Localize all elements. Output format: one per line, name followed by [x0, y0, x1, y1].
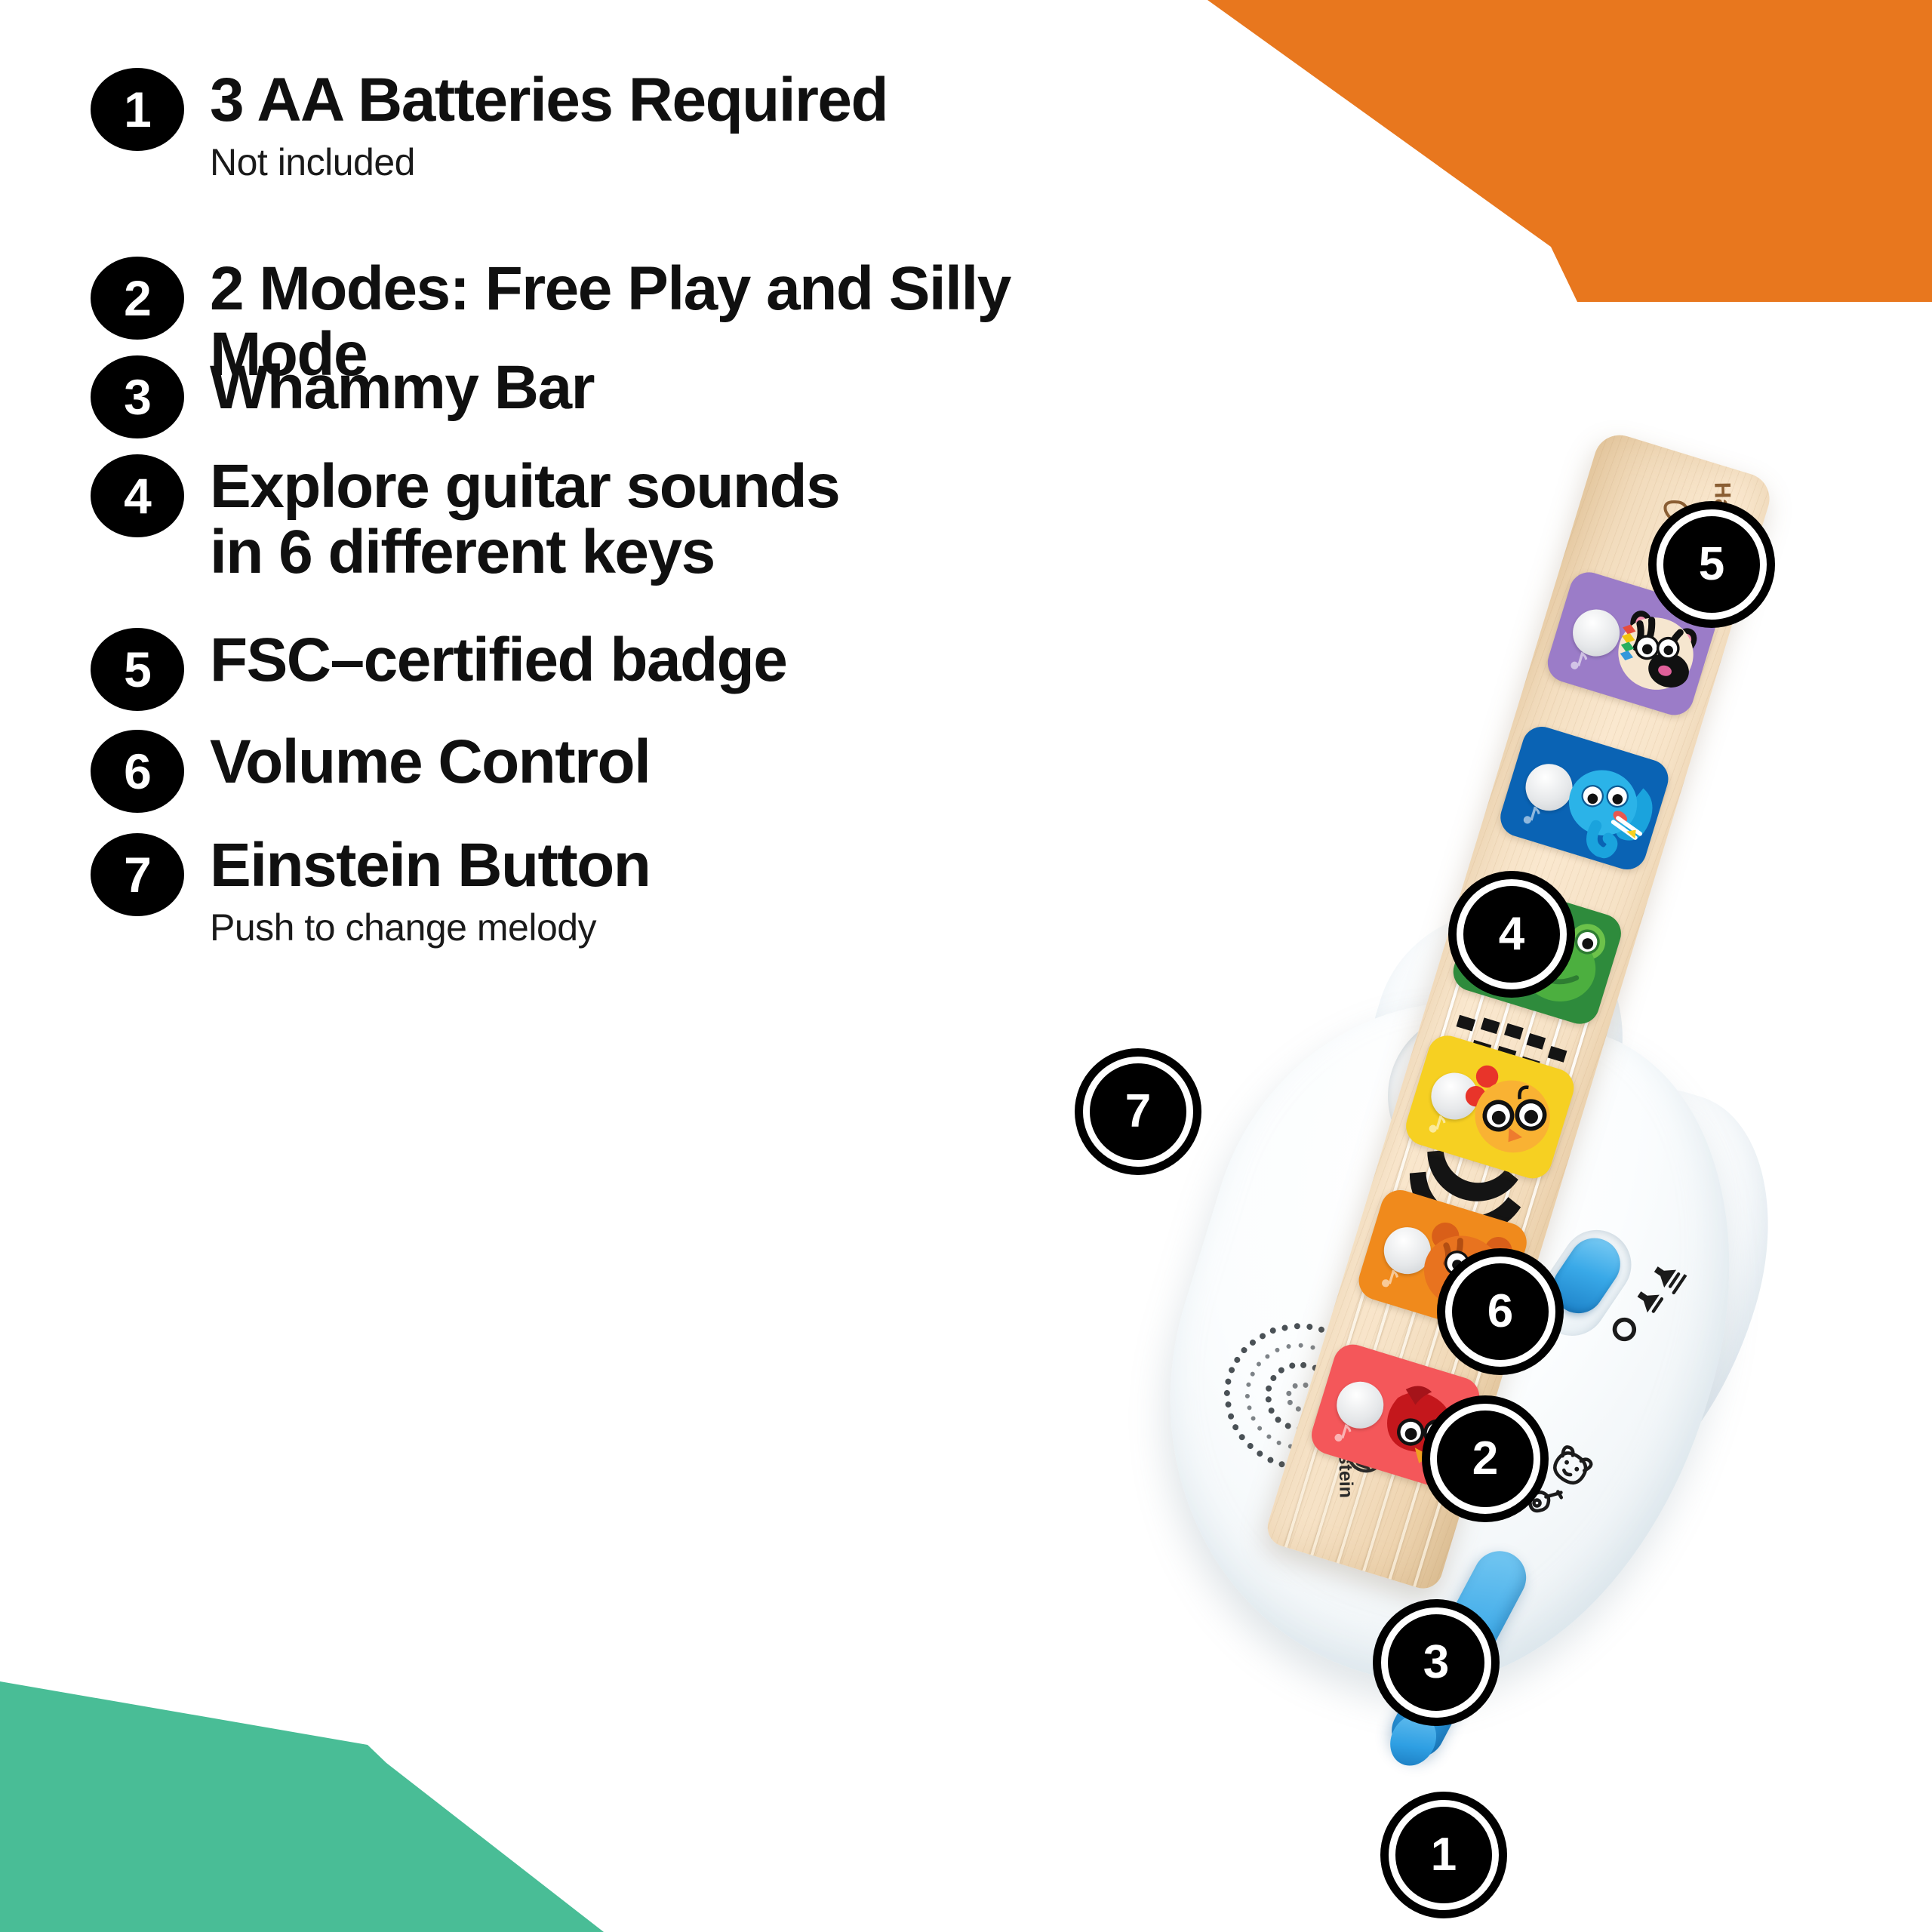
teal-corner-shape [0, 1615, 604, 1932]
power-off-icon [1611, 1316, 1638, 1343]
feature-badge-5: 5 [91, 628, 184, 711]
callout-badge-7: 7 [1083, 1057, 1193, 1167]
orange-corner-shape [1207, 0, 1932, 302]
feature-item-3: 3 Whammy Bar [91, 355, 1162, 454]
callout-badge-3: 3 [1381, 1607, 1491, 1718]
feature-subtitle-1: Not included [210, 141, 1162, 185]
feature-item-2: 2 2 Modes: Free Play and Silly Mode [91, 257, 1162, 355]
callout-badge-4: 4 [1457, 879, 1567, 989]
speaker-soft-icon [1633, 1285, 1663, 1315]
feature-badge-6: 6 [91, 730, 184, 813]
feature-badge-7: 7 [91, 833, 184, 916]
feature-badge-3: 3 [91, 355, 184, 438]
callout-badge-5: 5 [1657, 509, 1767, 620]
feature-badge-2: 2 [91, 257, 184, 340]
feature-item-1: 1 3 AA Batteries Required Not included [91, 68, 1162, 208]
feature-title-1: 3 AA Batteries Required [210, 68, 1162, 134]
callout-badge-2: 2 [1430, 1404, 1540, 1514]
feature-badge-1: 1 [91, 68, 184, 151]
callout-badge-1: 1 [1389, 1800, 1499, 1910]
feature-title-3: Whammy Bar [210, 355, 1162, 421]
callout-badge-6: 6 [1445, 1257, 1555, 1367]
feature-badge-4: 4 [91, 454, 184, 537]
